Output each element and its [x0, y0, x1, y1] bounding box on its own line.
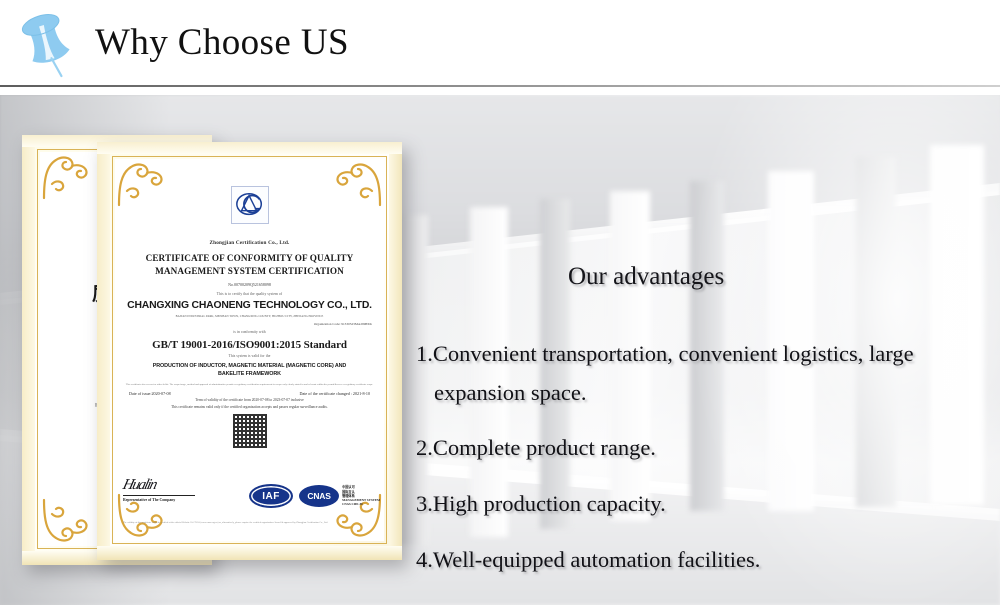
date-of-issue: Date of issue:2020-07-08	[129, 391, 171, 396]
cnas-text: 中国认可 国际互认 管理体系 MANAGEMENT SYSTEM CNAS C0…	[342, 485, 380, 507]
conformity-lead: is in conformity with	[123, 330, 376, 334]
header-divider	[0, 85, 1000, 87]
iaf-logo-icon: IAF	[249, 484, 293, 508]
certificate-number: No.00700209Q521658098	[123, 282, 376, 287]
page-root: Why Choose US	[0, 0, 1000, 605]
advantage-item-1: 1.Convenient transportation, convenient …	[416, 335, 996, 412]
certificate-title: CERTIFICATE OF CONFORMITY OF QUALITY MAN…	[123, 252, 376, 279]
advantage-2-text: Complete product range.	[433, 435, 656, 460]
certificate-company: CHANGXING CHAONENG TECHNOLOGY CO., LTD.	[123, 300, 376, 311]
page-title: Why Choose US	[95, 21, 349, 64]
certificate-front: Zhongjian Certification Co., Ltd. CERTIF…	[97, 142, 402, 560]
certificate-org-code: Organization Code: 91330523MA2998XK	[123, 322, 376, 326]
certificate-scope: PRODUCTION OF INDUCTOR, MAGNETIC MATERIA…	[123, 362, 376, 378]
advantage-item-3: 3.High production capacity.	[416, 485, 996, 524]
accreditation-logos: IAF CNAS 中国认可 国际互认 管理体系 MANAGEMENT SYSTE…	[249, 484, 380, 508]
date-changed: Date of the certificate changed : 2021-8…	[300, 391, 370, 396]
certificate-surveillance: This certificate remains valid only if t…	[123, 405, 376, 409]
advantage-3-text: High production capacity.	[433, 491, 666, 516]
certificate-validity: Term of validity of the certificate from…	[123, 398, 376, 402]
advantage-2-number: 2.	[416, 435, 433, 460]
signature-line	[123, 495, 195, 496]
advantage-1-continuation: expansion space.	[416, 374, 996, 413]
certify-lead: This is to certify that the quality syst…	[123, 292, 376, 296]
advantage-item-4: 4.Well-equipped automation facilities.	[416, 541, 996, 580]
advantages-list: 1.Convenient transportation, convenient …	[416, 335, 996, 579]
certificate-standard: GB/T 19001-2016/ISO9001:2015 Standard	[123, 339, 376, 351]
cnas-logo-icon: CNAS	[299, 485, 339, 507]
pushpin-icon	[14, 8, 86, 80]
zhongjian-logo-icon	[231, 186, 269, 224]
advantage-1-text: Convenient transportation, convenient lo…	[433, 341, 914, 366]
certificate-disclaimer: This certificate also covers for other f…	[123, 383, 376, 387]
scope-lead: This system is valid for the	[123, 354, 376, 358]
certificate-issuer: Zhongjian Certification Co., Ltd.	[123, 240, 376, 246]
qr-code	[233, 414, 267, 448]
advantage-3-number: 3.	[416, 491, 433, 516]
advantage-4-text: Well-equipped automation facilities.	[433, 547, 760, 572]
advantage-item-2: 2.Complete product range.	[416, 429, 996, 468]
banner-area: 质量 兹证明下列组织的质量管理体系 承諾 公司代表 发证日期	[0, 95, 1000, 605]
certificate-dates: Date of issue:2020-07-08 Date of the cer…	[123, 391, 376, 396]
advantages-title: Our advantages	[568, 263, 724, 291]
advantage-4-number: 4.	[416, 547, 433, 572]
certificate-address: BAITAN INDUSTRIAL PARK, MEISHAN TOWN, CH…	[123, 314, 376, 318]
advantage-1-number: 1.	[416, 341, 433, 366]
page-header: Why Choose US	[0, 0, 1000, 95]
certificate-footer-note: The validity of this certificate could b…	[123, 521, 380, 524]
